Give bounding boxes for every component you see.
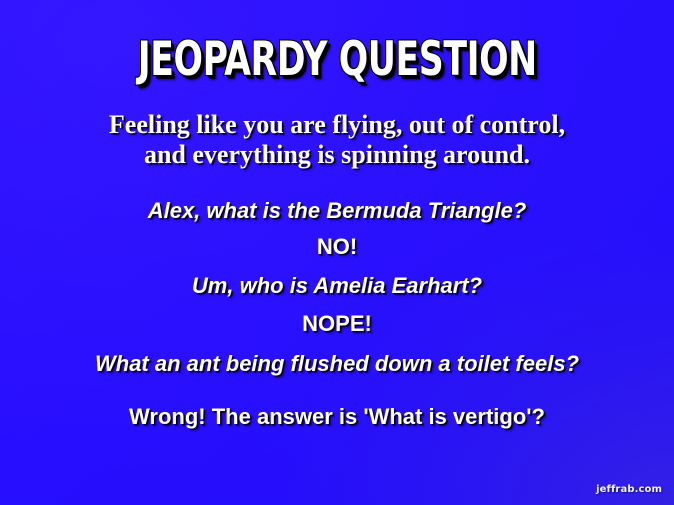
site-watermark: jeffrab.com: [596, 484, 662, 495]
slide-content: JEOPARDY QUESTION Feeling like you are f…: [0, 0, 674, 505]
jeopardy-question-slide: JEOPARDY QUESTION Feeling like you are f…: [0, 0, 674, 505]
correct-answer-reveal: Wrong! The answer is 'What is vertigo'?: [0, 404, 674, 430]
host-verdict-2: NOPE!: [0, 311, 674, 337]
clue-prompt-line-1: Feeling like you are flying, out of cont…: [0, 110, 674, 140]
contestant-guess-3: What an ant being flushed down a toilet …: [0, 351, 674, 377]
contestant-guess-2: Um, who is Amelia Earhart?: [0, 273, 674, 299]
contestant-guess-1: Alex, what is the Bermuda Triangle?: [0, 198, 674, 224]
slide-title: JEOPARDY QUESTION: [138, 36, 537, 85]
clue-prompt: Feeling like you are flying, out of cont…: [0, 110, 674, 170]
clue-prompt-line-2: and everything is spinning around.: [0, 140, 674, 170]
title-row: JEOPARDY QUESTION: [0, 36, 674, 85]
host-verdict-1: NO!: [0, 234, 674, 260]
